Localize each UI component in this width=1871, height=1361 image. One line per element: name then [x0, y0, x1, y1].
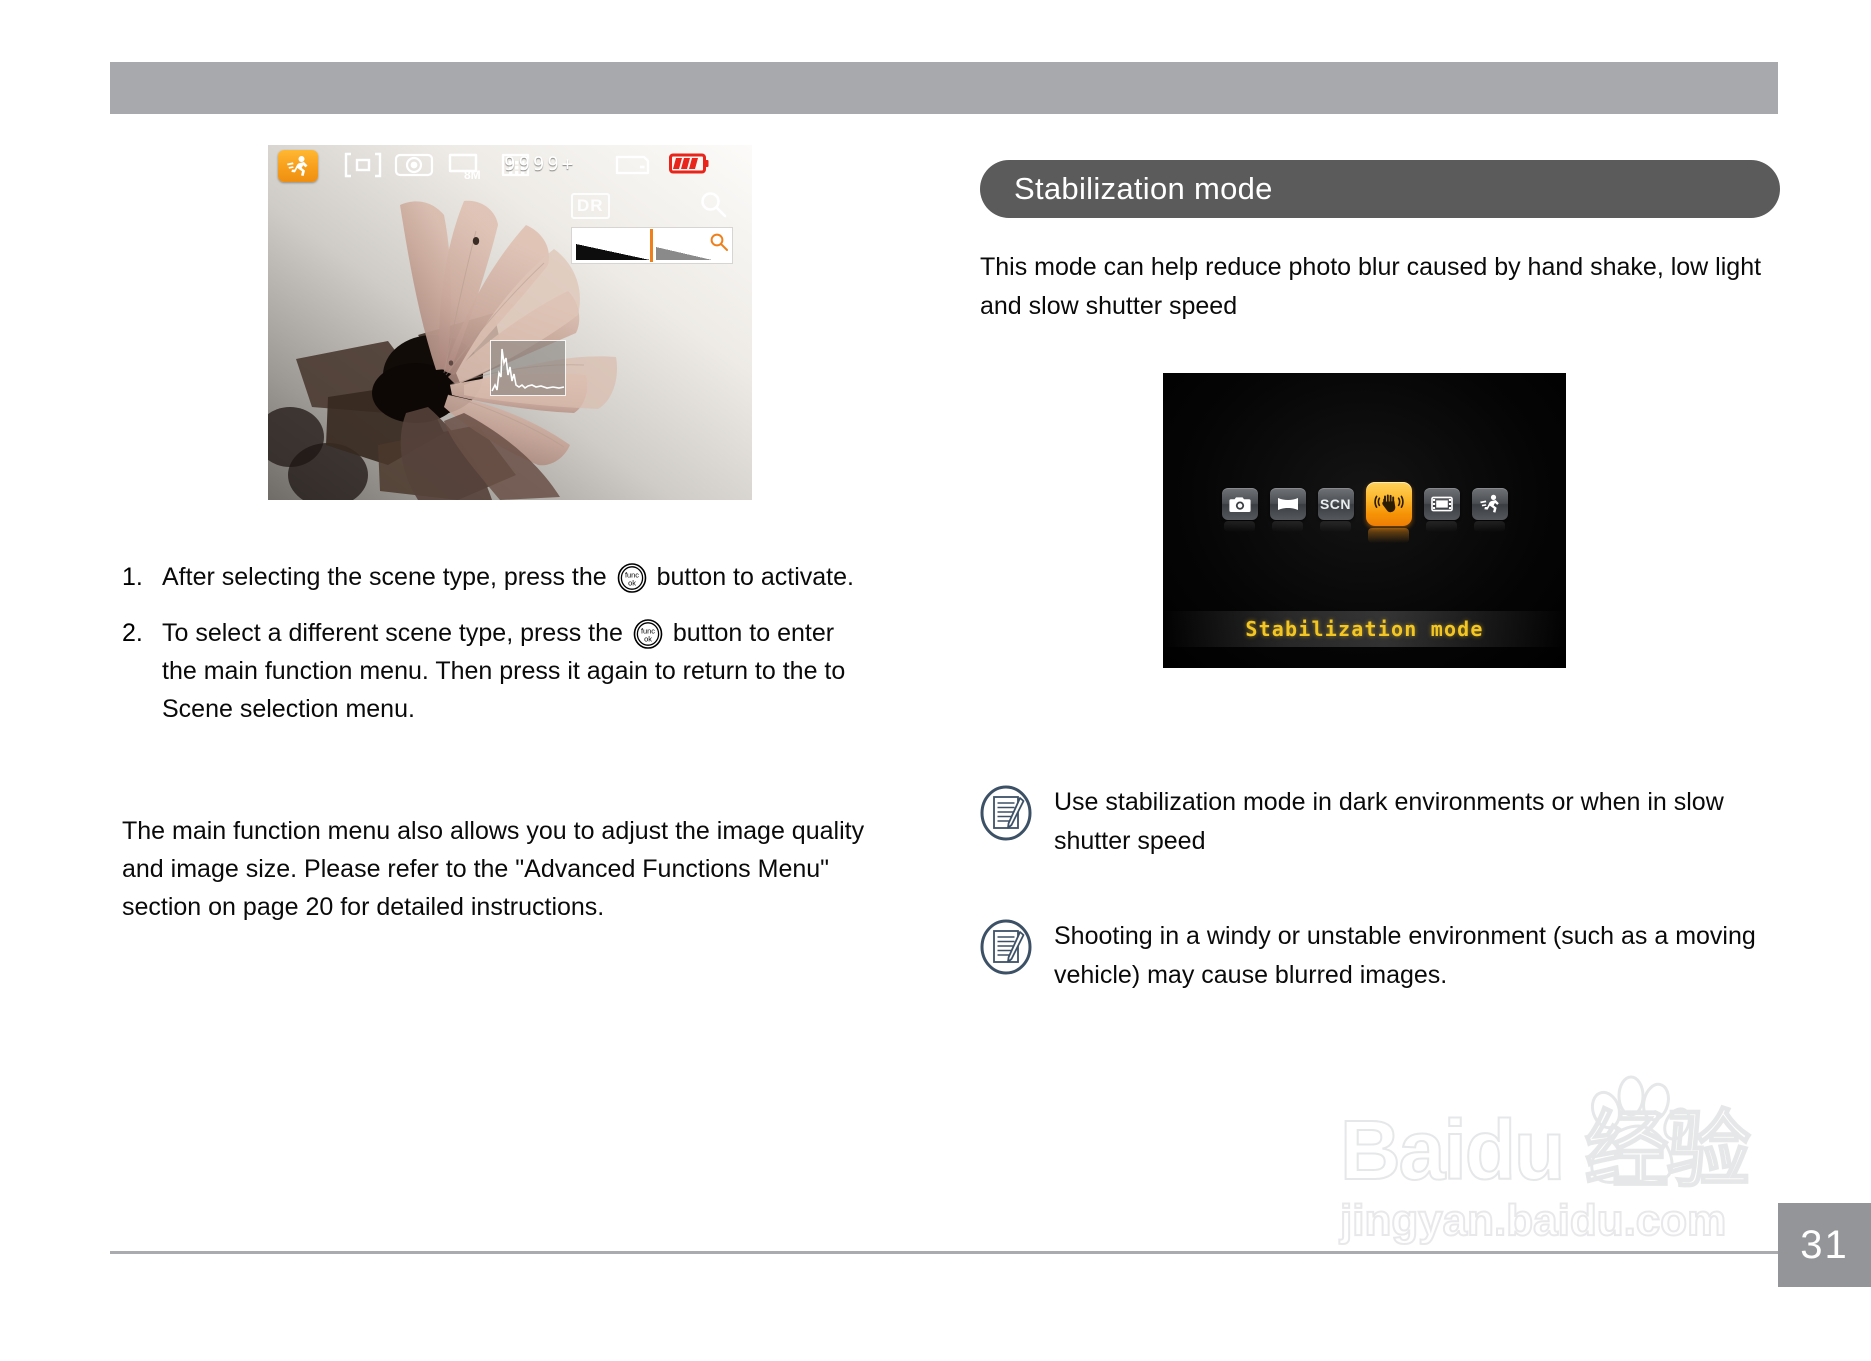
scene-mode-label: SCN — [1320, 496, 1351, 512]
flower-photo — [268, 145, 752, 500]
svg-text:ok: ok — [644, 635, 652, 644]
battery-full-icon — [668, 151, 710, 182]
watermark-brand: Baidu 经验 — [1340, 1108, 1810, 1192]
instruction-list: 1. After selecting the scene type, press… — [122, 558, 857, 746]
list-item-text-before: To select a different scene type, press … — [162, 619, 623, 647]
list-item-text: To select a different scene type, press … — [162, 614, 857, 728]
sports-mode-icon — [1472, 488, 1508, 520]
func-ok-button-icon: func ok — [633, 619, 663, 649]
stabilization-mode-icon[interactable] — [1366, 482, 1412, 526]
svg-text:ok: ok — [628, 579, 636, 588]
list-item: 2. To select a different scene type, pre… — [122, 614, 857, 728]
page-title: Stabilization mode — [1014, 171, 1273, 207]
lcd-mode-selection-screenshot: SCN — [1163, 373, 1566, 668]
panorama-mode-icon — [1270, 488, 1306, 520]
watermark-url: jingyan.baidu.com — [1340, 1198, 1810, 1244]
histogram-overlay — [490, 340, 566, 396]
func-ok-button-icon: func ok — [617, 563, 647, 593]
list-item-text: After selecting the scene type, press th… — [162, 558, 854, 596]
section-title-pill: Stabilization mode — [980, 160, 1780, 218]
note-block: Shooting in a windy or unstable environm… — [980, 917, 1790, 995]
movie-mode-icon — [1424, 488, 1460, 520]
note-text: Use stabilization mode in dark environme… — [1054, 783, 1790, 861]
svg-text:8M: 8M — [464, 168, 481, 181]
sd-card-icon — [614, 151, 654, 184]
lcd-mode-label: Stabilization mode — [1245, 617, 1483, 641]
osd-status-bar: 8M — [268, 145, 752, 187]
note-block: Use stabilization mode in dark environme… — [980, 783, 1790, 861]
image-size-icon: 8M — [446, 151, 490, 186]
list-item-text-before: After selecting the scene type, press th… — [162, 563, 607, 591]
list-item-number: 2. — [122, 614, 162, 728]
manual-page: 8M — [0, 0, 1871, 1361]
note-icon — [980, 919, 1032, 975]
sports-running-icon — [278, 150, 318, 182]
baidu-watermark: Baidu 经验 jingyan.baidu.com — [1340, 1108, 1810, 1288]
lcd-mode-label-band: Stabilization mode — [1163, 611, 1566, 647]
section-intro-text: This mode can help reduce photo blur cau… — [980, 248, 1780, 326]
zoom-bar — [571, 227, 733, 264]
note-icon — [980, 785, 1032, 841]
photo-mode-icon — [1222, 488, 1258, 520]
list-item: 1. After selecting the scene type, press… — [122, 558, 857, 596]
main-function-menu-paragraph: The main function menu also allows you t… — [122, 812, 882, 926]
shots-remaining-count: 9999+ — [504, 153, 576, 175]
page-number-badge: 31 — [1778, 1203, 1871, 1287]
mode-icon-row: SCN — [1163, 473, 1566, 535]
note-text: Shooting in a windy or unstable environm… — [1054, 917, 1790, 995]
paw-print-icon — [1576, 1074, 1696, 1194]
magnifier-icon — [698, 189, 728, 224]
dr-badge: DR — [571, 193, 610, 219]
list-item-text-after: button to activate. — [657, 563, 854, 591]
header-band — [110, 62, 1778, 114]
scene-mode-icon: SCN — [1318, 488, 1354, 520]
af-frame-icon — [342, 151, 384, 184]
footer-rule — [110, 1251, 1778, 1254]
camera-preview-screenshot: 8M — [268, 145, 752, 500]
list-item-number: 1. — [122, 558, 162, 596]
metering-icon — [394, 151, 434, 184]
